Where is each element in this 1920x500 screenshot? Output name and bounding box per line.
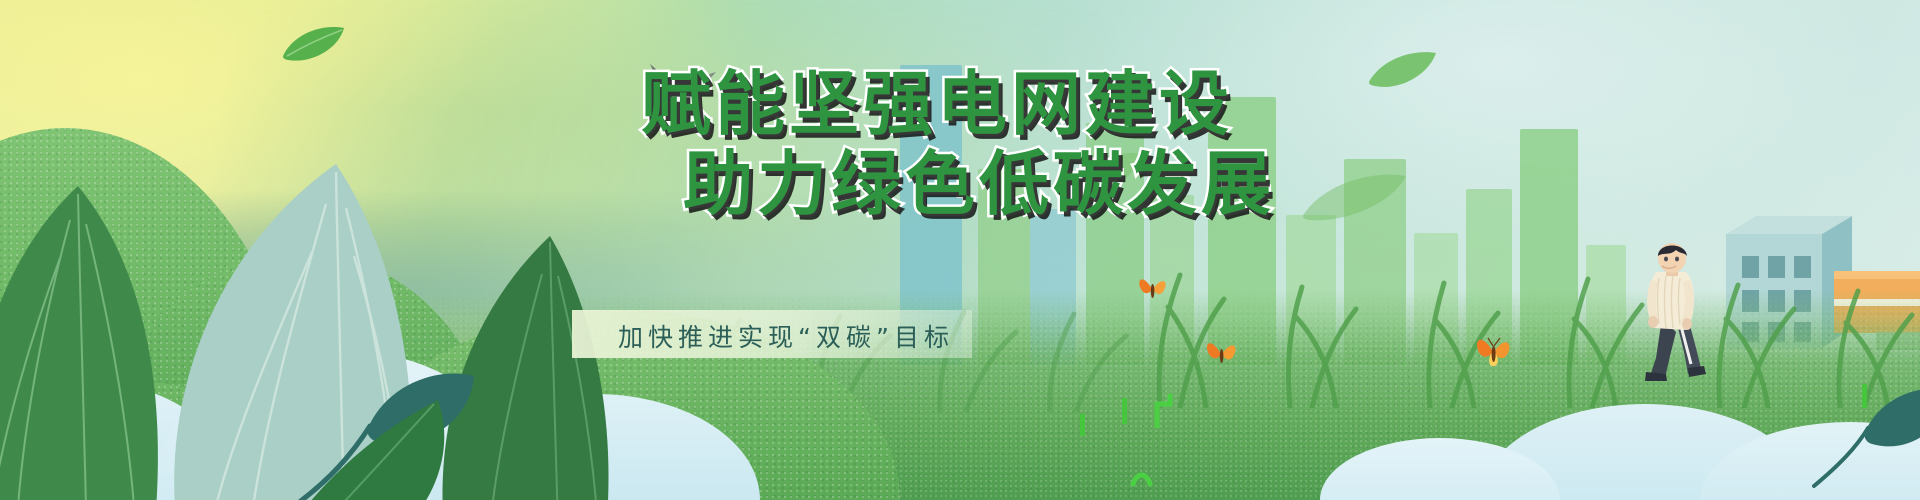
butterfly-icon-1 <box>1474 330 1514 368</box>
butterfly-icon-2 <box>1204 334 1240 368</box>
swallow-icon <box>636 62 720 118</box>
floating-leaf-4 <box>1300 170 1410 224</box>
sprout-1 <box>1080 414 1085 436</box>
sprout-2 <box>1122 398 1127 424</box>
leaf-dark-bottom <box>262 370 472 500</box>
subtitle-text: 加快推进实现“双碳”目标 <box>616 318 956 354</box>
butterfly-icon-3 <box>1136 270 1170 304</box>
sprout-7 <box>1130 468 1154 488</box>
grass-blades-cluster <box>1140 243 1920 408</box>
walking-person <box>1632 240 1716 382</box>
floating-leaf-3 <box>1068 148 1146 198</box>
leaf-teal-stemmed-right <box>1812 370 1920 490</box>
floating-leaf-1 <box>282 24 346 64</box>
floating-leaf-2 <box>1368 48 1438 92</box>
eco-banner: 赋能坚强电网建设 助力绿色低碳发展 加快推进实现“双碳”目标 <box>0 0 1920 500</box>
sprout-3 <box>1152 394 1174 428</box>
